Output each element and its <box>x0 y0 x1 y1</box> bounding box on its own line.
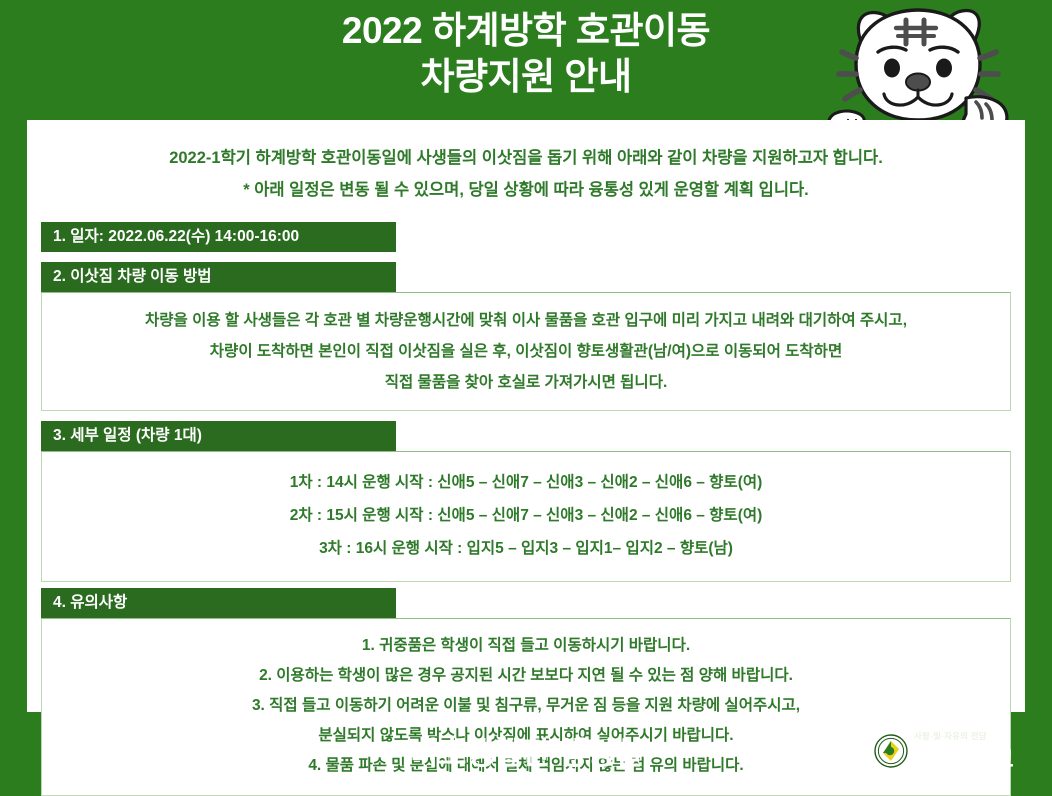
section-method: 2. 이삿짐 차량 이동 방법 차량을 이용 할 사생들은 각 호관 별 차량운… <box>41 262 1011 411</box>
poster-header: 2022 하계방학 호관이동 차량지원 안내 <box>0 0 1052 120</box>
section-header-schedule: 3. 세부 일정 (차량 1대) <box>41 421 396 451</box>
intro-paragraph: 2022-1학기 하계방학 호관이동일에 사생들의 이삿짐을 돕기 위해 아래와… <box>27 120 1025 206</box>
section-date: 1. 일자: 2022.06.22(수) 14:00-16:00 <box>41 222 1011 252</box>
university-logo: 사랑·빛·자유의 전당 대구대학교 <box>874 728 1040 774</box>
schedule-trip-row: 1차 : 14시 운행 시작 : 신애5 – 신애7 – 신애3 – 신애2 –… <box>60 466 992 499</box>
section-body-line: 차량이 도착하면 본인이 직접 이삿짐을 실은 후, 이삿짐이 향토생활관(남/… <box>60 336 992 367</box>
university-name: 대구대학교 <box>912 740 1013 774</box>
intro-line-1: 2022-1학기 하계방학 호관이동일에 사생들의 이삿짐을 돕기 위해 아래와… <box>67 142 985 174</box>
section-header-method: 2. 이삿짐 차량 이동 방법 <box>41 262 396 292</box>
page-title-line-1: 2022 하계방학 호관이동 <box>342 10 710 51</box>
section-header-date: 1. 일자: 2022.06.22(수) 14:00-16:00 <box>41 222 396 252</box>
note-item: 1. 귀중품은 학생이 직접 들고 이동하시기 바랍니다. <box>60 631 992 661</box>
section-schedule: 3. 세부 일정 (차량 1대) 1차 : 14시 운행 시작 : 신애5 – … <box>41 421 1011 582</box>
spacer <box>27 252 1025 262</box>
schedule-trip-row: 2차 : 15시 운행 시작 : 신애5 – 신애7 – 신애3 – 신애2 –… <box>60 499 992 532</box>
note-item: 2. 이용하는 학생이 많은 경우 공지된 시간 보보다 지연 될 수 있는 점… <box>60 661 992 691</box>
university-emblem-icon <box>874 734 908 768</box>
spacer <box>27 206 1025 222</box>
intro-line-2: * 아래 일정은 변동 될 수 있으며, 당일 상황에 따라 융통성 있게 운영… <box>67 174 985 206</box>
content-panel: 2022-1학기 하계방학 호관이동일에 사생들의 이삿짐을 돕기 위해 아래와… <box>27 120 1025 712</box>
schedule-trip-row: 3차 : 16시 운행 시작 : 입지5 – 입지3 – 입지1– 입지2 – … <box>60 532 992 565</box>
section-body-method: 차량을 이용 할 사생들은 각 호관 별 차량운행시간에 맞춰 이사 물품을 호… <box>41 292 1011 411</box>
spacer <box>27 411 1025 421</box>
section-header-notes: 4. 유의사항 <box>41 588 396 618</box>
section-body-schedule: 1차 : 14시 운행 시작 : 신애5 – 신애7 – 신애3 – 신애2 –… <box>41 451 1011 582</box>
page-title-line-2: 차량지원 안내 <box>0 54 1052 100</box>
section-body-line: 차량을 이용 할 사생들은 각 호관 별 차량운행시간에 맞춰 이사 물품을 호… <box>60 305 992 336</box>
page-title: 2022 하계방학 호관이동 차량지원 안내 <box>0 8 1052 100</box>
section-body-line: 직접 물품을 찾아 호실로 가져가시면 됩니다. <box>60 367 992 398</box>
